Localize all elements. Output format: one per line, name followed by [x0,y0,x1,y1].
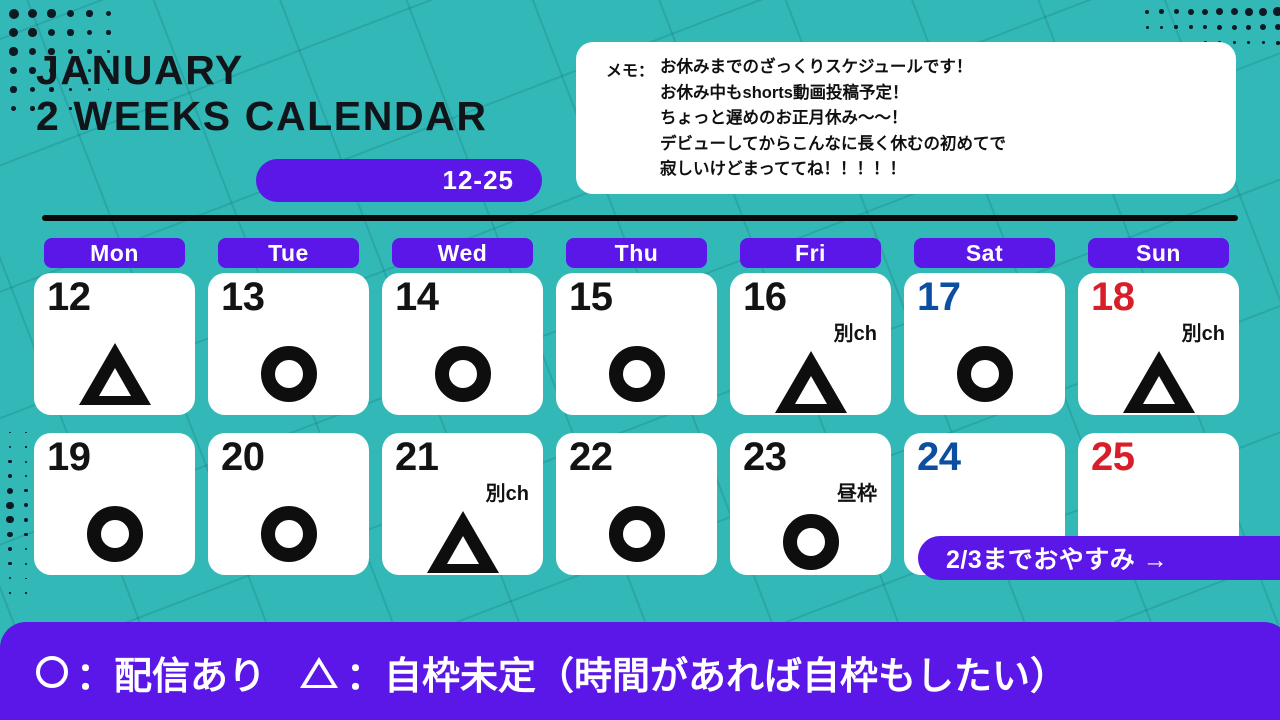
stream-circle-icon [435,346,491,402]
stream-circle-icon [957,346,1013,402]
stream-circle-icon [783,514,839,570]
day-number: 20 [221,435,265,480]
circle-outline-icon [36,656,68,688]
stream-circle-icon [609,346,665,402]
memo-card: メモ： お休みまでのざっくりスケジュールです！ お休み中もshorts動画投稿予… [576,42,1236,194]
day-mark [382,509,543,575]
tentative-triangle-icon [427,511,499,573]
page-title: JANUARY 2 WEEKS CALENDAR [36,48,488,140]
day-mark [556,341,717,407]
day-number: 18 [1091,275,1135,320]
day-note: 昼枠 [837,477,877,506]
day-number: 13 [221,275,265,320]
day-number: 19 [47,435,91,480]
day-mark [730,509,891,575]
weekday-header-thu: Thu [566,238,707,268]
legend-triangle-label: ：自枠未定（時間があれば自枠もしたい） [346,645,1068,700]
legend-bar: ：配信あり ：自枠未定（時間があれば自枠もしたい） [0,622,1280,720]
date-range-pill: 12-25 [256,159,542,202]
memo-line: デビューしてからこんなに長く休むの初めてで [660,132,1006,158]
rest-period-label: 2/3までおやすみ → [946,540,1168,576]
day-cell-22[interactable]: 22 [556,433,717,575]
weekday-label: Sat [966,240,1003,267]
stream-circle-icon [261,346,317,402]
weekday-header-sun: Sun [1088,238,1229,268]
day-mark [34,341,195,407]
day-number: 25 [1091,435,1135,480]
day-cell-20[interactable]: 20 [208,433,369,575]
date-range-label: 12-25 [443,165,515,196]
tentative-triangle-icon [1123,351,1195,413]
day-cell-13[interactable]: 13 [208,273,369,415]
weekday-header-wed: Wed [392,238,533,268]
day-note: 別ch [1182,317,1225,346]
day-cell-21[interactable]: 21別ch [382,433,543,575]
day-number: 17 [917,275,961,320]
day-number: 24 [917,435,961,480]
day-number: 22 [569,435,613,480]
day-number: 14 [395,275,439,320]
rest-period-banner: 2/3までおやすみ → [918,536,1280,580]
tentative-triangle-icon [79,343,151,405]
day-number: 16 [743,275,787,320]
day-cell-18[interactable]: 18別ch [1078,273,1239,415]
day-mark [904,341,1065,407]
day-note: 別ch [486,477,529,506]
memo-label: メモ： [606,55,654,184]
weekday-label: Sun [1136,240,1181,267]
weekday-header-mon: Mon [44,238,185,268]
day-note: 別ch [834,317,877,346]
day-cell-14[interactable]: 14 [382,273,543,415]
day-number: 23 [743,435,787,480]
day-cell-19[interactable]: 19 [34,433,195,575]
day-mark [1078,349,1239,415]
day-number: 12 [47,275,91,320]
calendar-graphic: JANUARY 2 WEEKS CALENDAR 12-25 メモ： お休みまで… [0,0,1280,720]
day-cell-12[interactable]: 12 [34,273,195,415]
weekday-label: Wed [438,240,488,267]
day-mark [556,501,717,567]
legend-circle-label: ：配信あり [76,645,266,700]
memo-line: 寂しいけどまっててね！！！！！ [660,157,1006,183]
stream-circle-icon [609,506,665,562]
tentative-triangle-icon [775,351,847,413]
weekday-label: Mon [90,240,139,267]
halftone-dots-left-edge [2,425,36,600]
memo-line: ちょっと遅めのお正月休み〜〜！ [660,106,1006,132]
triangle-outline-icon [300,657,338,688]
day-cell-23[interactable]: 23昼枠 [730,433,891,575]
day-mark [730,349,891,415]
memo-line: お休みまでのざっくりスケジュールです！ [660,55,1006,81]
stream-circle-icon [87,506,143,562]
day-mark [208,341,369,407]
day-number: 15 [569,275,613,320]
weekday-label: Fri [795,240,826,267]
title-line-month: JANUARY [36,48,488,94]
day-mark [34,501,195,567]
weekday-header-tue: Tue [218,238,359,268]
memo-line: お休み中もshorts動画投稿予定！ [660,81,1006,107]
weekday-header-fri: Fri [740,238,881,268]
title-line-subject: 2 WEEKS CALENDAR [36,94,488,140]
legend-items: ：配信あり ：自枠未定（時間があれば自枠もしたい） [36,645,1068,700]
weekday-header-sat: Sat [914,238,1055,268]
weekday-label: Thu [615,240,659,267]
day-cell-15[interactable]: 15 [556,273,717,415]
weekday-label: Tue [268,240,309,267]
day-mark [208,501,369,567]
day-cell-17[interactable]: 17 [904,273,1065,415]
day-number: 21 [395,435,439,480]
stream-circle-icon [261,506,317,562]
day-mark [382,341,543,407]
header-divider-rule [42,215,1238,221]
day-cell-16[interactable]: 16別ch [730,273,891,415]
memo-body: お休みまでのざっくりスケジュールです！ お休み中もshorts動画投稿予定！ ち… [654,55,1006,184]
